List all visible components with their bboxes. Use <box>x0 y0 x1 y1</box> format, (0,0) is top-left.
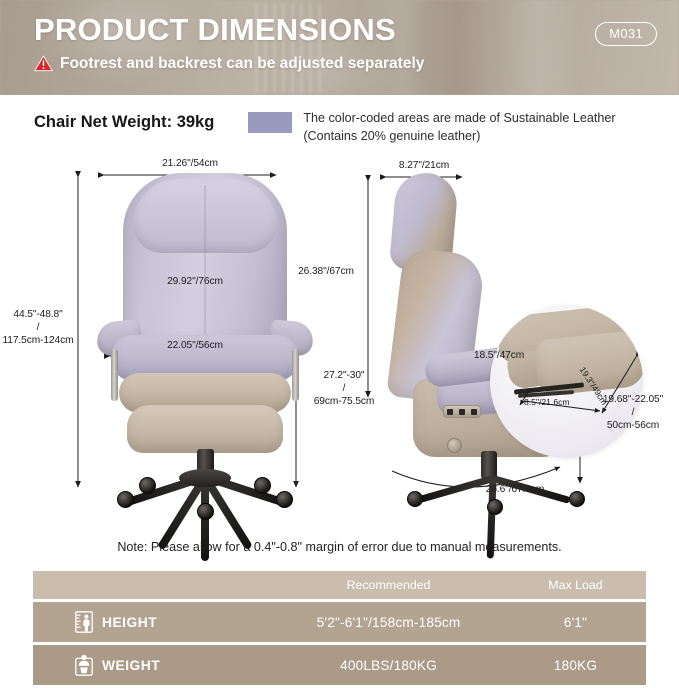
weight-recommended-cell: 400LBS/180KG <box>272 645 505 685</box>
page-title: PRODUCT DIMENSIONS <box>34 14 679 47</box>
height-label-text: HEIGHT <box>102 615 157 630</box>
weight-max-load-cell: 180KG <box>505 645 646 685</box>
legend-row: Chair Net Weight: 39kg The color-coded a… <box>0 95 679 153</box>
legend-description-line1: The color-coded areas are made of Sustai… <box>303 110 615 128</box>
legend-description-line2: (Contains 20% genuine leather) <box>303 128 615 146</box>
side-back-height-label: 26.38"/67cm <box>288 265 364 278</box>
model-badge: M031 <box>595 22 657 46</box>
side-seat-depth-label: 18.5"/47cm <box>444 349 554 362</box>
inset-thickness-label: 8.5"/21.6cm <box>524 397 570 407</box>
inset-dimension-lines <box>490 305 643 458</box>
front-view-chair-illustration <box>105 173 305 503</box>
side-seat-height-label: 19.68"-22.05" / 50cm-56cm <box>588 393 678 432</box>
header-banner: PRODUCT DIMENSIONS Footrest and backrest… <box>0 0 679 95</box>
warning-triangle-icon <box>34 55 53 72</box>
table-header-row: Recommended Max Load <box>33 571 646 599</box>
side-backrest-thickness-label: 8.27"/21cm <box>378 159 470 172</box>
legend-description: The color-coded areas are made of Sustai… <box>303 110 615 146</box>
chair-control-panel <box>443 405 481 418</box>
front-back-height-label: 29.92"/76cm <box>140 275 250 288</box>
table-header-blank <box>33 571 272 599</box>
front-top-width-label: 21.26"/54cm <box>140 157 240 170</box>
weight-label-cell: WEIGHT <box>33 645 272 685</box>
weight-person-scale-icon <box>75 654 93 676</box>
front-extended-depth-label: 27.2"-30" / 69cm-75.5cm <box>302 369 386 408</box>
spec-table: Recommended Max Load <box>33 568 646 688</box>
table-row-weight: WEIGHT 400LBS/180KG 180KG <box>33 645 646 685</box>
chair-adjust-knob <box>447 438 462 453</box>
legend-color-swatch <box>248 112 292 133</box>
height-max-load-cell: 6'1" <box>505 602 646 642</box>
front-total-height-label: 44.5"-48.8" / 117.5cm-124cm <box>0 308 76 347</box>
front-seat-width-label: 22.05"/56cm <box>140 339 250 352</box>
net-weight-label: Chair Net Weight: 39kg <box>34 105 214 132</box>
table-header-recommended: Recommended <box>272 571 505 599</box>
measurement-note: Note: Please allow for a 0.4"-0.8" margi… <box>0 528 679 554</box>
dimension-diagrams: 8.5"/21.6cm 19.3"/49cm 21.26"/54cm 29.92… <box>0 153 679 528</box>
table-header-max-load: Max Load <box>505 571 646 599</box>
table-row-height: HEIGHT 5'2"-6'1"/158cm-185cm 6'1" <box>33 602 646 642</box>
footrest-detail-inset: 8.5"/21.6cm 19.3"/49cm <box>490 305 643 458</box>
spec-table-wrapper: Recommended Max Load <box>0 554 679 688</box>
height-recommended-cell: 5'2"-6'1"/158cm-185cm <box>272 602 505 642</box>
side-base-diameter-label: 26.6"/67.6cm <box>460 483 570 496</box>
header-subtitle: Footrest and backrest can be adjusted se… <box>60 55 424 73</box>
weight-label-text: WEIGHT <box>102 658 160 673</box>
height-label-cell: HEIGHT <box>33 602 272 642</box>
height-person-ruler-icon <box>75 611 93 633</box>
